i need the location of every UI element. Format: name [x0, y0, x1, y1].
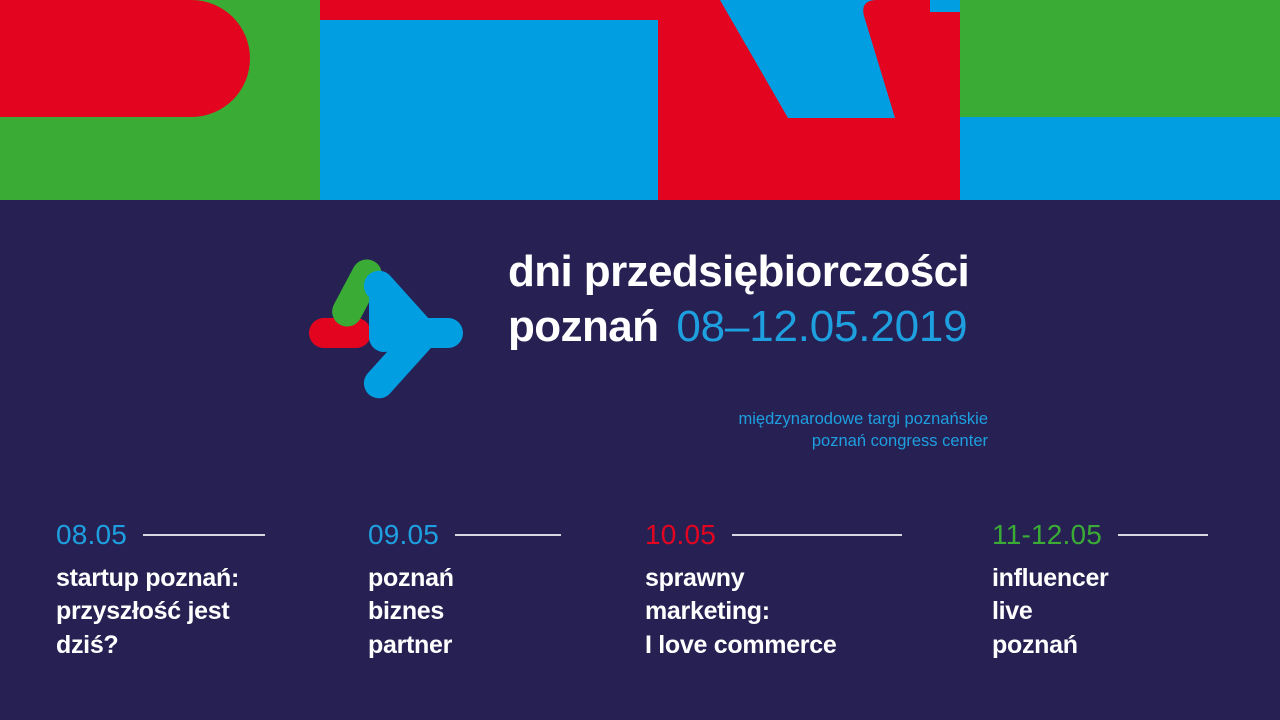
venue-subtitle: międzynarodowe targi poznańskie poznań c… — [508, 408, 988, 453]
divider-rule — [455, 534, 561, 536]
event-column-2[interactable]: 09.05 poznań biznes partner — [368, 518, 638, 662]
event-column-4[interactable]: 11-12.05 influencer live poznań — [992, 518, 1262, 662]
decorative-color-banner — [0, 0, 1280, 200]
event-title-line: przyszłość jest — [56, 595, 356, 628]
event-title-line: I love commerce — [645, 629, 975, 662]
event-title-line: partner — [368, 629, 638, 662]
banner-panel-2-blue-block — [320, 20, 640, 200]
event-column-1[interactable]: 08.05 startup poznań: przyszłość jest dz… — [56, 518, 356, 662]
venue-line-2: poznań congress center — [508, 430, 988, 452]
title-line-1: dni przedsiębiorczości — [508, 250, 988, 294]
divider-rule — [143, 534, 265, 536]
banner-panel-4-blue-block — [960, 117, 1280, 200]
event-column-3[interactable]: 10.05 sprawny marketing: I love commerce — [645, 518, 975, 662]
banner-panel-4-green-block — [960, 0, 1280, 117]
event-title: poznań biznes partner — [368, 562, 638, 662]
dpp-arrow-logo — [305, 258, 475, 413]
event-date-header: 08.05 — [56, 518, 356, 552]
event-title-line: biznes — [368, 595, 638, 628]
event-date: 11-12.05 — [992, 521, 1102, 549]
poster-root: dni przedsiębiorczości poznań08–12.05.20… — [0, 0, 1280, 720]
event-title-line: poznań — [368, 562, 638, 595]
event-schedule-columns: 08.05 startup poznań: przyszłość jest dz… — [0, 518, 1280, 688]
title-line-2: poznań08–12.05.2019 — [508, 305, 988, 349]
banner-panel-1-red-d-shape — [0, 0, 250, 117]
banner-panel-3-blue-n-shape — [640, 0, 960, 200]
event-title-line: sprawny — [645, 562, 975, 595]
divider-rule — [732, 534, 902, 536]
event-title: sprawny marketing: I love commerce — [645, 562, 975, 662]
event-title-line: marketing: — [645, 595, 975, 628]
divider-rule — [1118, 534, 1208, 536]
event-title-line: influencer — [992, 562, 1262, 595]
event-date: 08.05 — [56, 521, 127, 549]
event-date-header: 09.05 — [368, 518, 638, 552]
event-title-block: dni przedsiębiorczości poznań08–12.05.20… — [508, 250, 988, 349]
event-title-line: dziś? — [56, 629, 356, 662]
logo-and-title-row: dni przedsiębiorczości poznań08–12.05.20… — [0, 250, 1280, 470]
event-title-line: poznań — [992, 629, 1262, 662]
banner-panel-4-blue-notch — [930, 0, 960, 12]
title-city: poznań — [508, 302, 658, 351]
event-title: startup poznań: przyszłość jest dziś? — [56, 562, 356, 662]
event-date: 09.05 — [368, 521, 439, 549]
event-title-line: startup poznań: — [56, 562, 356, 595]
event-date-header: 10.05 — [645, 518, 975, 552]
event-date-header: 11-12.05 — [992, 518, 1262, 552]
event-title: influencer live poznań — [992, 562, 1262, 662]
venue-line-1: międzynarodowe targi poznańskie — [508, 408, 988, 430]
title-dates: 08–12.05.2019 — [676, 302, 967, 351]
event-date: 10.05 — [645, 521, 716, 549]
event-title-line: live — [992, 595, 1262, 628]
